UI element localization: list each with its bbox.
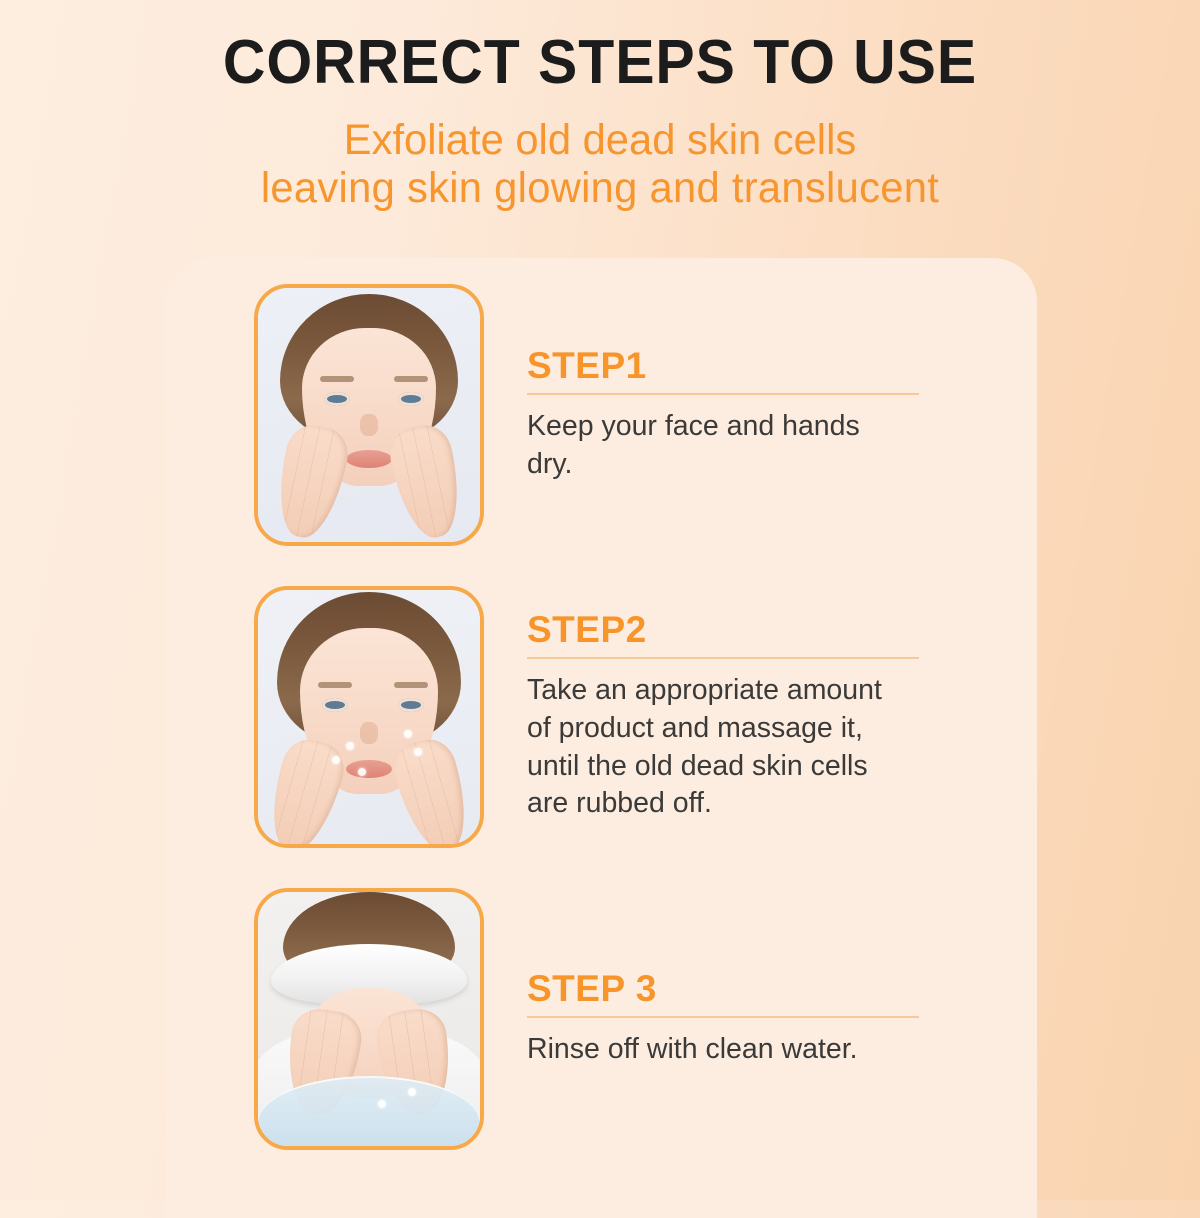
step-1-heading: STEP1 bbox=[527, 347, 927, 393]
step-3-heading: STEP 3 bbox=[527, 970, 927, 1016]
page-title: CORRECT STEPS TO USE bbox=[30, 32, 1170, 94]
step-item-3: STEP 3 Rinse off with clean water. bbox=[254, 888, 927, 1150]
steps-card: STEP1 Keep your face and hands dry. bbox=[165, 258, 1037, 1218]
header: CORRECT STEPS TO USE Exfoliate old dead … bbox=[0, 0, 1200, 212]
step-3-photo bbox=[254, 888, 484, 1150]
step-1-divider bbox=[527, 393, 919, 395]
step-2-photo bbox=[254, 586, 484, 848]
step-1-photo bbox=[254, 284, 484, 546]
step-2-text: STEP2 Take an appropriate amount of prod… bbox=[527, 611, 927, 822]
subtitle: Exfoliate old dead skin cells leaving sk… bbox=[18, 116, 1182, 212]
subtitle-line-2: leaving skin glowing and translucent bbox=[18, 164, 1182, 212]
step-2-divider bbox=[527, 657, 919, 659]
step-1-text: STEP1 Keep your face and hands dry. bbox=[527, 347, 927, 483]
step-3-divider bbox=[527, 1016, 919, 1018]
step-2-body: Take an appropriate amount of product an… bbox=[527, 672, 927, 822]
step-1-body: Keep your face and hands dry. bbox=[527, 408, 927, 483]
step-3-body: Rinse off with clean water. bbox=[527, 1031, 927, 1069]
step-2-heading: STEP2 bbox=[527, 611, 927, 657]
step-item-2: STEP2 Take an appropriate amount of prod… bbox=[254, 586, 927, 848]
step-item-1: STEP1 Keep your face and hands dry. bbox=[254, 284, 927, 546]
subtitle-line-1: Exfoliate old dead skin cells bbox=[18, 116, 1182, 164]
step-3-text: STEP 3 Rinse off with clean water. bbox=[527, 970, 927, 1069]
